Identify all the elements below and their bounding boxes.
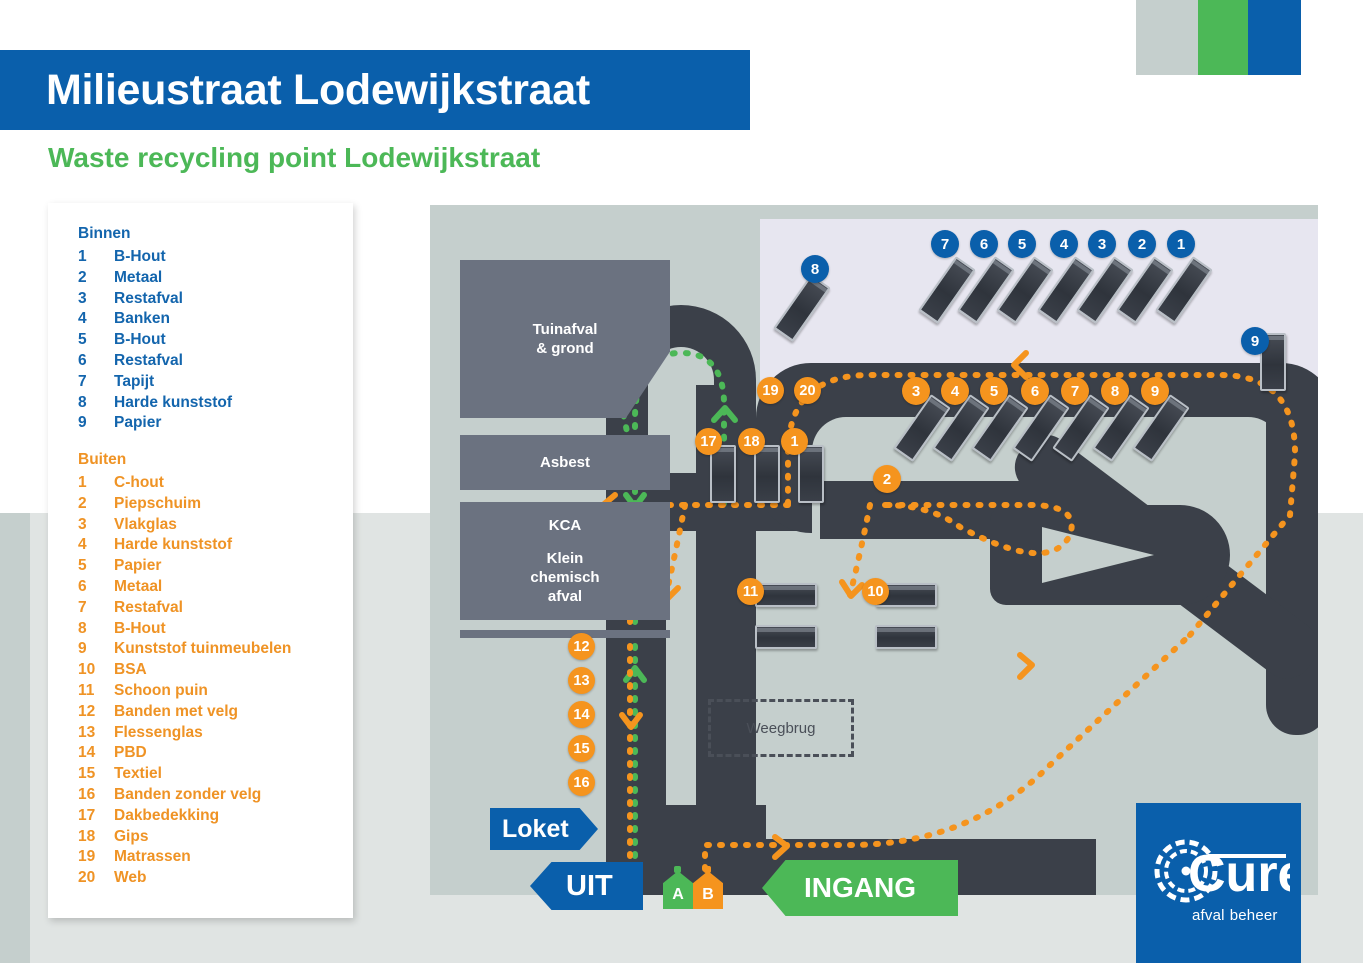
legend-item: 17Dakbedekking	[78, 806, 291, 827]
legend-item-number: 6	[78, 577, 114, 598]
legend-item: 18Gips	[78, 827, 291, 848]
legend-item: 3Restafval	[78, 289, 232, 310]
brand-block-green	[1198, 0, 1248, 75]
legend-item-number: 7	[78, 598, 114, 619]
page-title: Milieustraat Lodewijkstraat	[0, 66, 590, 115]
legend-item-label: Kunststof tuinmeubelen	[114, 639, 291, 660]
site-map: Tuinafval & grond Asbest KCA Klein chemi…	[430, 205, 1318, 895]
building-asbest: Asbest	[460, 435, 670, 490]
marker-blue-8[interactable]: 8	[801, 255, 829, 283]
legend-item: 6Metaal	[78, 577, 291, 598]
marker-orange-10[interactable]: 10	[862, 578, 889, 605]
legend-item-label: B-Hout	[114, 247, 166, 268]
building-kca: KCA Klein chemisch afval	[460, 502, 670, 620]
legend-item: 2Metaal	[78, 268, 232, 289]
marker-orange-17[interactable]: 17	[695, 428, 722, 455]
cure-logo-mark: Cure	[1150, 833, 1290, 913]
legend-item-label: BSA	[114, 660, 147, 681]
legend-item-number: 5	[78, 330, 114, 351]
brand-block-gray	[1136, 0, 1198, 75]
legend-item: 7Tapijt	[78, 372, 232, 393]
legend-item-label: Restafval	[114, 289, 183, 310]
building-strip	[460, 630, 670, 638]
cure-logo: Cure afvalbeheer	[1136, 803, 1301, 963]
legend-item-label: Vlakglas	[114, 515, 177, 536]
container-orange-11	[755, 583, 817, 607]
legend-item-label: B-Hout	[114, 619, 166, 640]
legend-item: 9Kunststof tuinmeubelen	[78, 639, 291, 660]
legend-item-number: 14	[78, 743, 114, 764]
marker-orange-12[interactable]: 12	[568, 633, 595, 660]
legend-item: 11Schoon puin	[78, 681, 291, 702]
legend-item-label: Gips	[114, 827, 148, 848]
route-orange-arrow-to-10	[842, 582, 862, 596]
marker-orange-20[interactable]: 20	[794, 377, 821, 404]
cure-tagline-divider	[1226, 910, 1229, 922]
legend-item-number: 18	[78, 827, 114, 848]
container-orange-1	[798, 445, 824, 503]
building-kca-line3: chemisch	[530, 568, 599, 587]
legend-item-number: 1	[78, 247, 114, 268]
marker-orange-8[interactable]: 8	[1101, 377, 1129, 405]
legend-item-number: 20	[78, 868, 114, 889]
legend-item-number: 8	[78, 619, 114, 640]
marker-blue-1[interactable]: 1	[1167, 230, 1195, 258]
legend-item-number: 4	[78, 535, 114, 556]
legend-item-label: Harde kunststof	[114, 535, 232, 556]
marker-blue-9[interactable]: 9	[1241, 327, 1269, 355]
legend-item: 14PBD	[78, 743, 291, 764]
marker-orange-6[interactable]: 6	[1021, 377, 1049, 405]
legend-item-label: Restafval	[114, 351, 183, 372]
marker-blue-3[interactable]: 3	[1088, 230, 1116, 258]
marker-orange-19[interactable]: 19	[757, 377, 784, 404]
legend-item: 8B-Hout	[78, 619, 291, 640]
page-background-left-strip	[0, 513, 30, 963]
legend-item: 9Papier	[78, 413, 232, 434]
legend-item-label: Matrassen	[114, 847, 191, 868]
marker-orange-1[interactable]: 1	[781, 428, 808, 455]
legend-item-label: Schoon puin	[114, 681, 208, 702]
legend-item: 3Vlakglas	[78, 515, 291, 536]
legend-item-number: 5	[78, 556, 114, 577]
building-tuinafval-line1: Tuinafval	[533, 320, 598, 339]
legend-card: Binnen 1B-Hout 2Metaal 3Restafval 4Banke…	[48, 203, 353, 918]
legend-section-buiten: Buiten 1C-hout 2Piepschuim 3Vlakglas 4Ha…	[78, 451, 291, 889]
building-tuinafval-line2: & grond	[533, 339, 598, 358]
legend-item: 15Textiel	[78, 764, 291, 785]
legend-heading-buiten: Buiten	[78, 451, 291, 469]
page-subtitle: Waste recycling point Lodewijkstraat	[48, 142, 540, 174]
legend-item-label: Tapijt	[114, 372, 154, 393]
legend-item-number: 9	[78, 639, 114, 660]
marker-orange-15[interactable]: 15	[568, 735, 595, 762]
legend-item-number: 16	[78, 785, 114, 806]
legend-item: 12Banden met velg	[78, 702, 291, 723]
marker-blue-6[interactable]: 6	[970, 230, 998, 258]
legend-item-label: Dakbedekking	[114, 806, 219, 827]
legend-item-number: 11	[78, 681, 114, 702]
building-kca-line4: afval	[530, 587, 599, 606]
entrance-banner: INGANG	[762, 860, 958, 916]
legend-item-number: 2	[78, 494, 114, 515]
legend-item: 5Papier	[78, 556, 291, 577]
marker-blue-2[interactable]: 2	[1128, 230, 1156, 258]
legend-item: 13Flessenglas	[78, 723, 291, 744]
legend-item-number: 10	[78, 660, 114, 681]
legend-item: 1C-hout	[78, 473, 291, 494]
legend-item-number: 4	[78, 309, 114, 330]
building-asbest-label: Asbest	[540, 453, 590, 472]
marker-orange-11[interactable]: 11	[737, 578, 764, 605]
legend-item-number: 7	[78, 372, 114, 393]
marker-blue-7[interactable]: 7	[931, 230, 959, 258]
legend-item-label: Textiel	[114, 764, 162, 785]
marker-orange-18[interactable]: 18	[738, 428, 765, 455]
legend-item: 7Restafval	[78, 598, 291, 619]
cure-tagline-right: beheer	[1230, 907, 1278, 924]
legend-item-number: 6	[78, 351, 114, 372]
container-orange-18	[754, 445, 780, 503]
legend-item: 19Matrassen	[78, 847, 291, 868]
loket-banner: Loket	[490, 808, 598, 850]
legend-item-label: Metaal	[114, 268, 162, 289]
marker-orange-13[interactable]: 13	[568, 667, 595, 694]
building-tuinafval: Tuinafval & grond	[460, 260, 670, 418]
legend-section-binnen: Binnen 1B-Hout 2Metaal 3Restafval 4Banke…	[78, 225, 232, 434]
legend-item-label: Restafval	[114, 598, 183, 619]
legend-item-number: 2	[78, 268, 114, 289]
container-orange-10b	[875, 625, 937, 649]
legend-item-number: 1	[78, 473, 114, 494]
legend-item: 16Banden zonder velg	[78, 785, 291, 806]
legend-item-label: PBD	[114, 743, 147, 764]
marker-blue-4[interactable]: 4	[1050, 230, 1078, 258]
legend-heading-binnen: Binnen	[78, 225, 232, 243]
weegbrug-area: Weegbrug	[708, 699, 854, 757]
legend-item-number: 3	[78, 289, 114, 310]
legend-item: 2Piepschuim	[78, 494, 291, 515]
brand-color-blocks	[1136, 0, 1301, 75]
legend-item-number: 19	[78, 847, 114, 868]
building-kca-line1: KCA	[530, 516, 599, 535]
legend-item: 1B-Hout	[78, 247, 232, 268]
legend-item: 8Harde kunststof	[78, 393, 232, 414]
marker-orange-3[interactable]: 3	[902, 377, 930, 405]
legend-item: 4Harde kunststof	[78, 535, 291, 556]
svg-text:Cure: Cure	[1188, 845, 1290, 903]
marker-orange-9[interactable]: 9	[1141, 377, 1169, 405]
legend-item-number: 12	[78, 702, 114, 723]
exit-banner: UIT	[530, 862, 643, 910]
legend-item-label: Papier	[114, 413, 161, 434]
legend-item: 10BSA	[78, 660, 291, 681]
legend-item: 6Restafval	[78, 351, 232, 372]
legend-item-label: B-Hout	[114, 330, 166, 351]
legend-item-label: Metaal	[114, 577, 162, 598]
marker-orange-2[interactable]: 2	[873, 465, 901, 493]
legend-item-label: Papier	[114, 556, 161, 577]
road-right-vertical	[1266, 405, 1318, 735]
building-kca-line2: Klein	[530, 549, 599, 568]
legend-item-label: Harde kunststof	[114, 393, 232, 414]
legend-item-label: C-hout	[114, 473, 164, 494]
cure-logo-tagline: afvalbeheer	[1192, 907, 1278, 924]
title-bar: Milieustraat Lodewijkstraat	[0, 50, 750, 130]
legend-item-number: 8	[78, 393, 114, 414]
legend-item: 20Web	[78, 868, 291, 889]
marker-orange-16[interactable]: 16	[568, 769, 595, 796]
legend-item-number: 3	[78, 515, 114, 536]
legend-item-number: 13	[78, 723, 114, 744]
marker-orange-14[interactable]: 14	[568, 701, 595, 728]
legend-item-number: 9	[78, 413, 114, 434]
container-orange-11b	[755, 625, 817, 649]
legend-item-label: Banden met velg	[114, 702, 238, 723]
marker-blue-5[interactable]: 5	[1008, 230, 1036, 258]
brand-block-blue	[1248, 0, 1301, 75]
marker-orange-5[interactable]: 5	[980, 377, 1008, 405]
marker-orange-7[interactable]: 7	[1061, 377, 1089, 405]
cure-tagline-left: afval	[1192, 907, 1225, 924]
legend-item-label: Banden zonder velg	[114, 785, 261, 806]
legend-item: 4Banken	[78, 309, 232, 330]
legend-item-label: Banken	[114, 309, 170, 330]
legend-item-number: 17	[78, 806, 114, 827]
marker-orange-4[interactable]: 4	[941, 377, 969, 405]
legend-item-label: Flessenglas	[114, 723, 203, 744]
legend-item-label: Web	[114, 868, 146, 889]
legend-item-number: 15	[78, 764, 114, 785]
weegbrug-label: Weegbrug	[747, 720, 816, 737]
legend-item-label: Piepschuim	[114, 494, 201, 515]
legend-item: 5B-Hout	[78, 330, 232, 351]
route-orange-arrow-diagonal	[1020, 655, 1032, 677]
